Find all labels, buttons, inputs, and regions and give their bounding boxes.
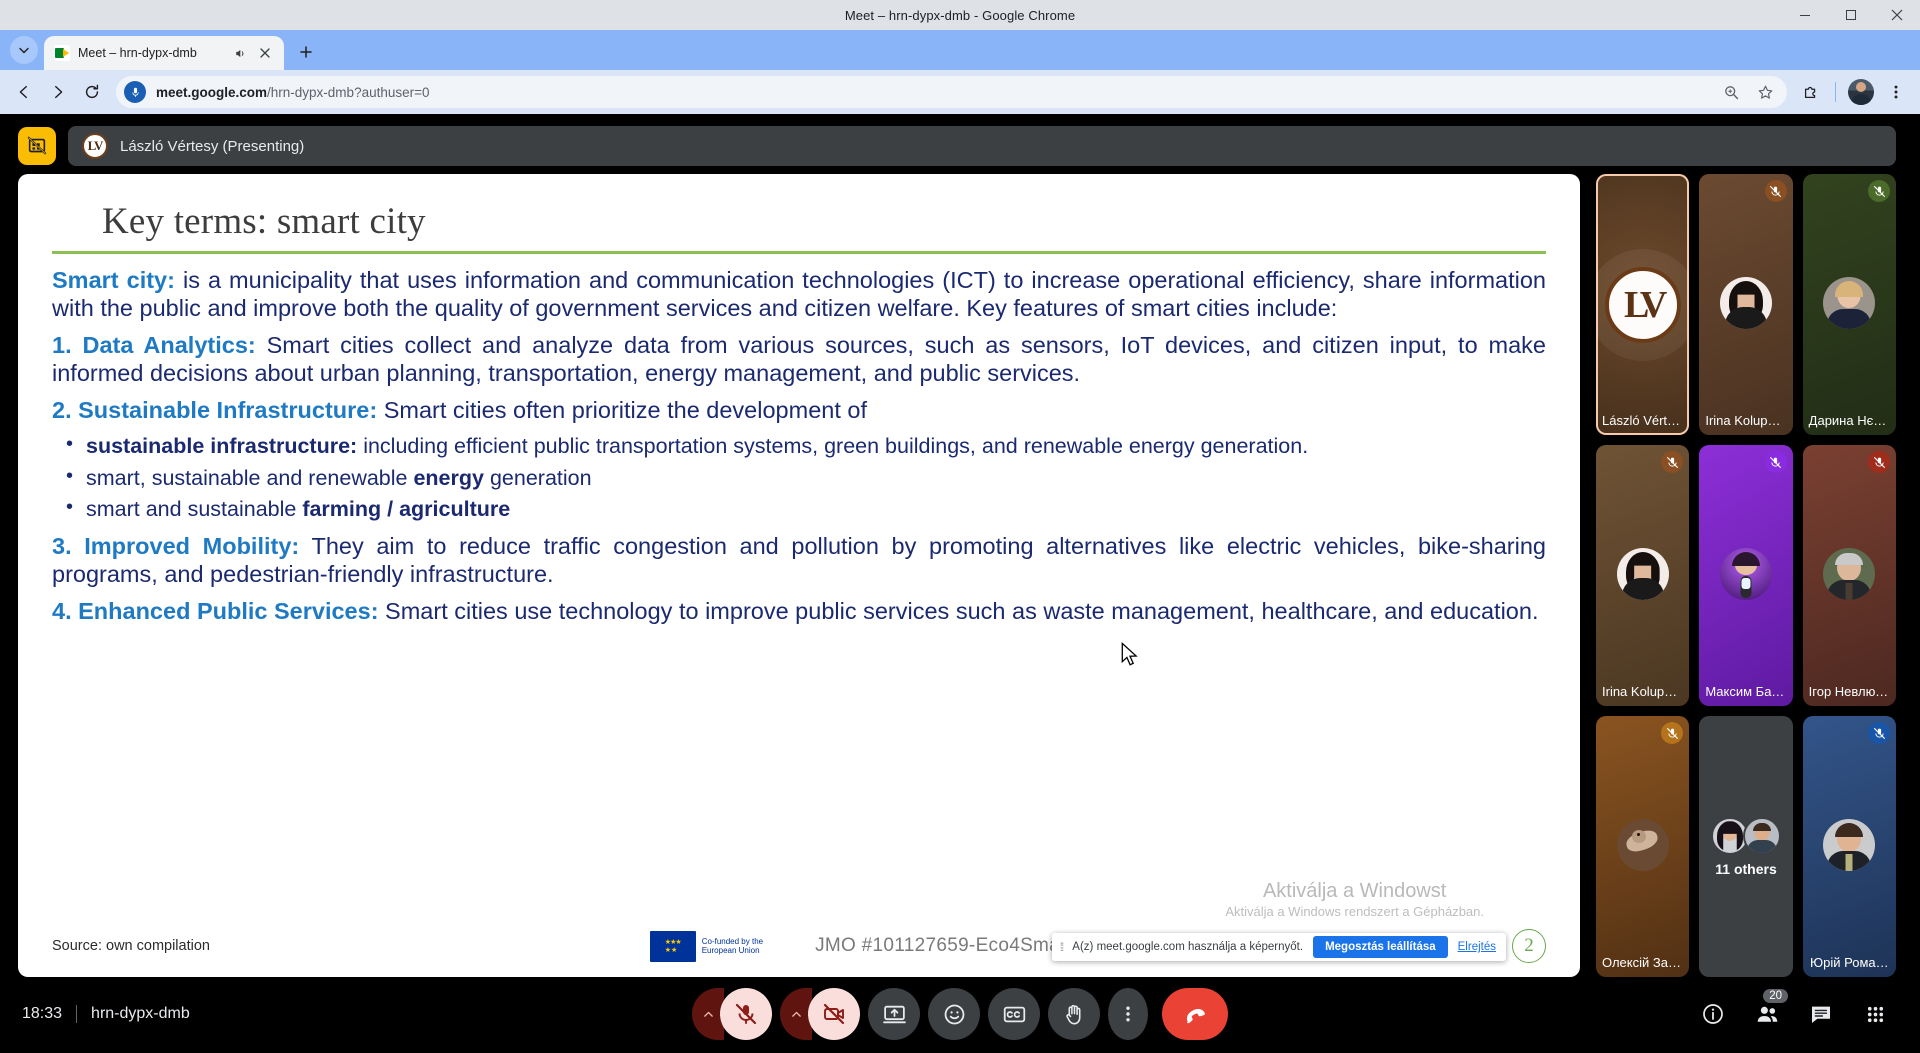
participant-name: Максим Бау… bbox=[1699, 684, 1792, 699]
participant-name: Юрій Рома… bbox=[1803, 955, 1896, 970]
more-options-button[interactable] bbox=[1108, 988, 1148, 1040]
watermark-line-2: Aktiválja a Windows rendszert a Gépházba… bbox=[1225, 904, 1484, 919]
end-call-button[interactable] bbox=[1162, 988, 1228, 1040]
drag-grip-icon[interactable]: ⁞⁞ bbox=[1060, 940, 1063, 954]
participant-tiles-grid: LV László Vértesy Irina Kolupai… bbox=[1596, 174, 1896, 977]
forward-arrow-icon[interactable] bbox=[42, 76, 74, 108]
address-bar-url: meet.google.com/hrn-dypx-dmb?authuser=0 bbox=[156, 85, 1705, 100]
presented-slide[interactable]: Key terms: smart city Smart city: is a m… bbox=[18, 174, 1580, 977]
bullet-bold-mid: farming / agriculture bbox=[302, 497, 510, 521]
google-meet-app: LV László Vértesy (Presenting) Key terms… bbox=[0, 114, 1920, 1053]
people-button[interactable]: 20 bbox=[1744, 991, 1790, 1037]
mic-muted-badge bbox=[1868, 180, 1890, 202]
microphone-icon[interactable] bbox=[124, 81, 146, 103]
list-item: smart and sustainable farming / agricult… bbox=[52, 496, 1546, 522]
browser-tab[interactable]: Meet – hrn-dypx-dmb bbox=[44, 36, 284, 70]
eu-label-line1: Co-funded by the bbox=[702, 937, 763, 946]
bullet-text-after: generation bbox=[484, 466, 592, 490]
project-code: JMO #101127659-Eco4Smart bbox=[815, 935, 1072, 957]
slide-paragraph: 3. Improved Mobility: They aim to reduce… bbox=[52, 532, 1546, 588]
participant-name: Irina Kolupai… bbox=[1596, 684, 1689, 699]
mic-muted-badge bbox=[1868, 451, 1890, 473]
eu-stars: ★★★★ ★ bbox=[650, 931, 696, 962]
bullet-text: smart, sustainable and renewable bbox=[86, 466, 413, 490]
hide-sharing-bar-link[interactable]: Elrejtés bbox=[1458, 941, 1496, 953]
url-path: /hrn-dypx-dmb?authuser=0 bbox=[267, 85, 429, 100]
camera-muted-button[interactable] bbox=[808, 988, 860, 1040]
participant-tile[interactable]: LV László Vértesy bbox=[1596, 174, 1689, 435]
participant-name: Irina Kolupai… bbox=[1699, 413, 1792, 428]
reload-icon[interactable] bbox=[76, 76, 108, 108]
others-avatar-stack bbox=[1711, 817, 1781, 855]
participant-tile-others[interactable]: 11 others bbox=[1699, 716, 1792, 977]
window-minimize-button[interactable] bbox=[1782, 0, 1828, 30]
participant-name: Дарина Нєн… bbox=[1803, 413, 1896, 428]
eu-funding-label: Co-funded by the European Union bbox=[702, 937, 763, 955]
tab-title: Meet – hrn-dypx-dmb bbox=[78, 46, 222, 60]
activities-button[interactable] bbox=[1852, 991, 1898, 1037]
microphone-control-group bbox=[692, 988, 772, 1040]
screen-share-notification-bar[interactable]: ⁞⁞ A(z) meet.google.com használja a képe… bbox=[1052, 933, 1506, 961]
presenter-name: László Vértesy (Presenting) bbox=[120, 138, 304, 155]
bullet-bold-lead: sustainable infrastructure: bbox=[86, 434, 357, 458]
avatar bbox=[1823, 277, 1875, 329]
meet-bottom-bar: 18:33 hrn-dypx-dmb bbox=[0, 975, 1920, 1053]
stop-sharing-button[interactable]: Megosztás leállítása bbox=[1313, 936, 1448, 958]
title-underline bbox=[52, 251, 1546, 254]
participant-tile[interactable]: Дарина Нєн… bbox=[1803, 174, 1896, 435]
slide-page-number: 2 bbox=[1512, 929, 1546, 963]
participant-tile[interactable]: Ігор Невлюд… bbox=[1803, 445, 1896, 706]
paragraph-text: is a municipality that uses information … bbox=[52, 267, 1546, 321]
meeting-time: 18:33 bbox=[22, 1005, 62, 1023]
url-host: meet.google.com bbox=[156, 85, 267, 100]
bookmark-star-icon[interactable] bbox=[1749, 76, 1781, 108]
slide-body: Smart city: is a municipality that uses … bbox=[52, 266, 1546, 626]
avatar bbox=[1823, 548, 1875, 600]
participant-name: Олексій Зах… bbox=[1596, 955, 1689, 970]
slide-source-text: Source: own compilation bbox=[52, 938, 210, 954]
list-item: smart, sustainable and renewable energy … bbox=[52, 465, 1546, 491]
emoji-reactions-button[interactable] bbox=[928, 988, 980, 1040]
meet-header: LV László Vértesy (Presenting) bbox=[0, 114, 1920, 174]
avatar bbox=[1617, 548, 1669, 600]
raise-hand-button[interactable] bbox=[1048, 988, 1100, 1040]
present-screen-button[interactable] bbox=[868, 988, 920, 1040]
meta-divider bbox=[76, 1005, 77, 1023]
meeting-meta: 18:33 hrn-dypx-dmb bbox=[22, 1005, 190, 1023]
avatar bbox=[1720, 548, 1772, 600]
list-item: sustainable infrastructure: including ef… bbox=[52, 433, 1546, 459]
chat-button[interactable] bbox=[1798, 991, 1844, 1037]
participant-name: Ігор Невлюд… bbox=[1803, 684, 1896, 699]
toolbar-divider bbox=[1835, 82, 1836, 102]
watermark-line-1: Aktiválja a Windowst bbox=[1225, 879, 1484, 904]
windows-activation-watermark: Aktiválja a Windowst Aktiválja a Windows… bbox=[1225, 879, 1484, 919]
participant-tile[interactable]: Юрій Рома… bbox=[1803, 716, 1896, 977]
avatar bbox=[1720, 277, 1772, 329]
meeting-code: hrn-dypx-dmb bbox=[91, 1005, 190, 1023]
window-controls bbox=[1782, 0, 1920, 30]
extensions-puzzle-icon[interactable] bbox=[1795, 76, 1827, 108]
paragraph-text: Smart cities collect and analyze data fr… bbox=[52, 332, 1546, 386]
participant-tile[interactable]: Максим Бау… bbox=[1699, 445, 1792, 706]
avatar bbox=[1617, 819, 1669, 871]
captions-button[interactable] bbox=[988, 988, 1040, 1040]
paragraph-text: Smart cities often prioritize the develo… bbox=[377, 397, 867, 423]
paragraph-lead: 3. Improved Mobility: bbox=[52, 533, 299, 559]
zoom-in-icon[interactable] bbox=[1715, 76, 1747, 108]
others-count-label: 11 others bbox=[1715, 861, 1776, 877]
eu-flag-icon: ★★★★ ★ bbox=[650, 931, 696, 962]
slide-paragraph: 4. Enhanced Public Services: Smart citie… bbox=[52, 597, 1546, 625]
participant-tile[interactable]: Irina Kolupai… bbox=[1699, 174, 1792, 435]
avatar bbox=[1743, 817, 1781, 855]
window-close-button[interactable] bbox=[1874, 0, 1920, 30]
participant-count-badge: 20 bbox=[1763, 989, 1788, 1003]
slide-bullet-list: sustainable infrastructure: including ef… bbox=[52, 433, 1546, 522]
profile-avatar[interactable] bbox=[1848, 79, 1874, 105]
tab-search-icon[interactable] bbox=[10, 36, 38, 64]
participant-tile[interactable]: Олексій Зах… bbox=[1596, 716, 1689, 977]
presenter-chip[interactable]: LV László Vértesy (Presenting) bbox=[68, 126, 1896, 166]
window-title: Meet – hrn-dypx-dmb - Google Chrome bbox=[845, 8, 1075, 23]
window-title-bar: Meet – hrn-dypx-dmb - Google Chrome bbox=[0, 0, 1920, 30]
participant-tile[interactable]: Irina Kolupai… bbox=[1596, 445, 1689, 706]
mic-muted-badge bbox=[1765, 180, 1787, 202]
paragraph-lead: Smart city: bbox=[52, 267, 175, 293]
eu-label-line2: European Union bbox=[702, 946, 760, 955]
bullet-text: including efficient public transportatio… bbox=[357, 434, 1308, 458]
mic-muted-badge bbox=[1868, 722, 1890, 744]
paragraph-lead: 4. Enhanced Public Services: bbox=[52, 598, 379, 624]
avatar: LV bbox=[82, 133, 108, 159]
slide-paragraph: 2. Sustainable Infrastructure: Smart cit… bbox=[52, 396, 1546, 424]
tab-close-icon[interactable] bbox=[256, 44, 274, 62]
mic-muted-badge bbox=[1661, 451, 1683, 473]
slide-paragraph: Smart city: is a municipality that uses … bbox=[52, 266, 1546, 322]
unpin-presentation-icon[interactable] bbox=[18, 127, 56, 165]
mic-muted-badge bbox=[1661, 722, 1683, 744]
window-maximize-button[interactable] bbox=[1828, 0, 1874, 30]
slide-paragraph: 1. Data Analytics: Smart cities collect … bbox=[52, 331, 1546, 387]
back-arrow-icon[interactable] bbox=[8, 76, 40, 108]
google-meet-favicon bbox=[54, 45, 70, 61]
paragraph-lead: 2. Sustainable Infrastructure: bbox=[52, 397, 377, 423]
paragraph-text: Smart cities use technology to improve p… bbox=[379, 598, 1539, 624]
paragraph-lead: 1. Data Analytics: bbox=[52, 332, 256, 358]
browser-toolbar: meet.google.com/hrn-dypx-dmb?authuser=0 bbox=[0, 70, 1920, 114]
browser-tab-strip: Meet – hrn-dypx-dmb bbox=[0, 30, 1920, 70]
meet-stage: Key terms: smart city Smart city: is a m… bbox=[0, 174, 1920, 977]
meet-controls bbox=[692, 988, 1228, 1040]
page-title: Key terms: smart city bbox=[52, 200, 1546, 243]
meeting-info-button[interactable] bbox=[1690, 991, 1736, 1037]
meet-right-controls: 20 bbox=[1690, 991, 1898, 1037]
avatar bbox=[1823, 819, 1875, 871]
new-tab-button[interactable] bbox=[292, 38, 320, 66]
avatar: LV bbox=[1605, 267, 1681, 343]
address-bar[interactable]: meet.google.com/hrn-dypx-dmb?authuser=0 bbox=[116, 76, 1787, 108]
tab-audio-playing-icon[interactable] bbox=[230, 44, 248, 62]
share-message: A(z) meet.google.com használja a képerny… bbox=[1072, 941, 1303, 953]
camera-control-group bbox=[780, 988, 860, 1040]
bullet-bold-mid: energy bbox=[413, 466, 484, 490]
bullet-text: smart and sustainable bbox=[86, 497, 302, 521]
mic-muted-badge bbox=[1765, 451, 1787, 473]
three-dot-menu-icon[interactable] bbox=[1880, 76, 1912, 108]
participant-name: László Vértesy bbox=[1596, 413, 1689, 428]
microphone-muted-button[interactable] bbox=[720, 988, 772, 1040]
